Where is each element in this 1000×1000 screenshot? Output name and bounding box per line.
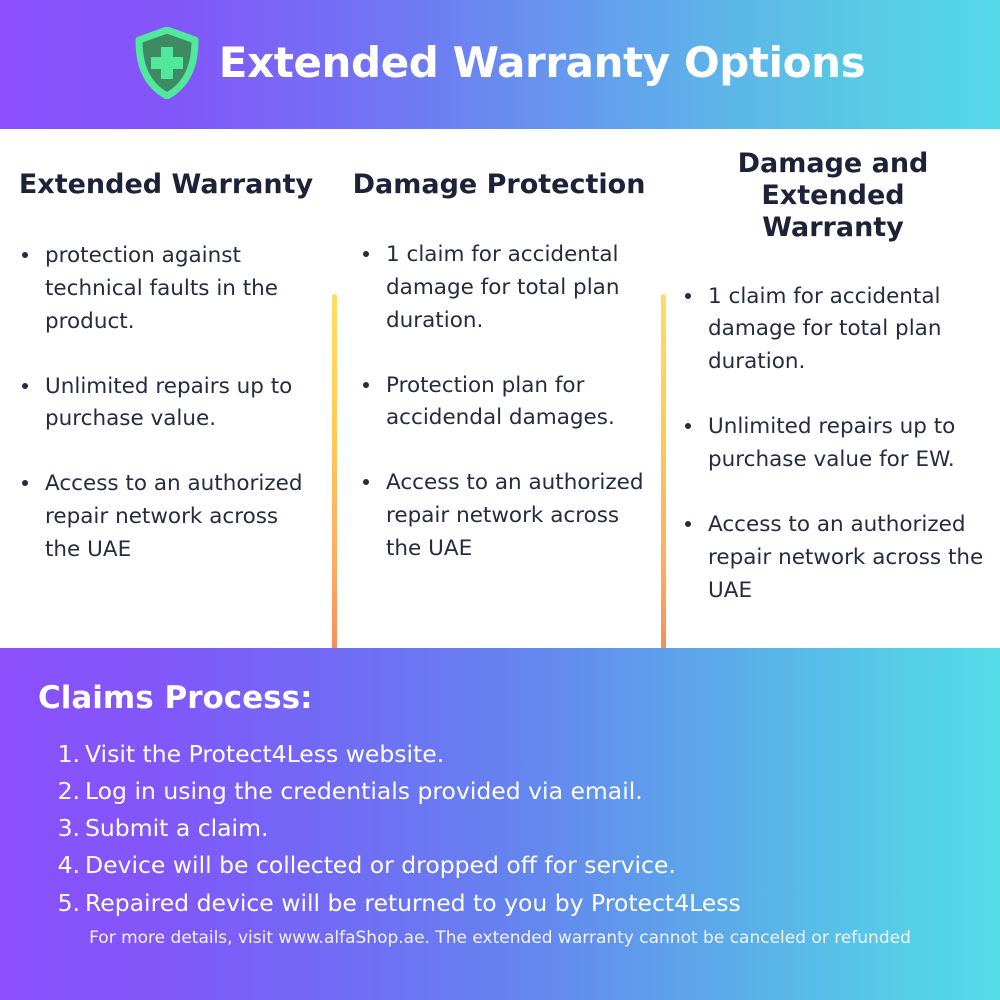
claims-step: 4. Device will be collected or dropped o… xyxy=(50,847,741,884)
list-item: 1 claim for accidental damage for total … xyxy=(359,239,649,338)
header-content: Extended Warranty Options xyxy=(135,27,865,99)
claims-step-text: Log in using the credentials provided vi… xyxy=(85,773,643,810)
header-banner: Extended Warranty Options xyxy=(0,0,1000,129)
list-item-text: Unlimited repairs up to purchase value f… xyxy=(708,414,955,472)
list-item-text: Unlimited repairs up to purchase value. xyxy=(45,374,292,432)
claims-step-text: Visit the Protect4Less website. xyxy=(85,736,444,773)
claims-step-number: 2. xyxy=(50,773,85,810)
claims-step: 5. Repaired device will be returned to y… xyxy=(50,885,741,922)
list-item: Unlimited repairs up to purchase value. xyxy=(18,371,318,437)
list-item-text: protection against technical faults in t… xyxy=(45,243,278,334)
claims-step-text: Device will be collected or dropped off … xyxy=(85,847,676,884)
claims-process-steps: 1. Visit the Protect4Less website. 2. Lo… xyxy=(50,736,741,922)
list-item-text: Access to an authorized repair network a… xyxy=(708,512,983,603)
feature-list: 1 claim for accidental damage for total … xyxy=(666,281,1000,608)
list-item-text: Protection plan for accidendal damages. xyxy=(386,373,615,431)
feature-list: 1 claim for accidental damage for total … xyxy=(337,239,661,566)
claims-process-title: Claims Process: xyxy=(38,680,312,716)
column-title: Damage and Extended Warranty xyxy=(666,129,1000,244)
claims-step: 3. Submit a claim. xyxy=(50,810,741,847)
bullet-dot-icon xyxy=(685,521,691,527)
list-item: Access to an authorized repair network a… xyxy=(359,467,649,566)
comparison-panel: Extended Warranty protection against tec… xyxy=(0,129,1000,648)
claims-step-number: 1. xyxy=(50,736,85,773)
list-item: Access to an authorized repair network a… xyxy=(681,509,984,608)
bullet-dot-icon xyxy=(363,251,369,257)
bullet-dot-icon xyxy=(22,383,28,389)
bullet-dot-icon xyxy=(363,382,369,388)
claims-step: 2. Log in using the credentials provided… xyxy=(50,773,741,810)
claims-process-section: Claims Process: 1. Visit the Protect4Les… xyxy=(0,648,1000,1000)
claims-step-number: 3. xyxy=(50,810,85,847)
claims-step-number: 5. xyxy=(50,885,85,922)
plan-column-damage-and-extended-warranty: Damage and Extended Warranty 1 claim for… xyxy=(666,129,1000,608)
plan-column-damage-protection: Damage Protection 1 claim for accidental… xyxy=(337,129,661,566)
bullet-dot-icon xyxy=(685,423,691,429)
list-item: Unlimited repairs up to purchase value f… xyxy=(681,411,984,477)
list-item: 1 claim for accidental damage for total … xyxy=(681,281,984,380)
claims-step: 1. Visit the Protect4Less website. xyxy=(50,736,741,773)
list-item-text: Access to an authorized repair network a… xyxy=(386,470,643,561)
column-title: Extended Warranty xyxy=(0,129,332,201)
claims-step-text: Submit a claim. xyxy=(85,810,268,847)
footnote-text: For more details, visit www.alfaShop.ae.… xyxy=(0,928,1000,948)
list-item: protection against technical faults in t… xyxy=(18,240,318,339)
bullet-dot-icon xyxy=(685,293,691,299)
claims-step-text: Repaired device will be returned to you … xyxy=(85,885,741,922)
list-item: Access to an authorized repair network a… xyxy=(18,468,318,567)
claims-step-number: 4. xyxy=(50,847,85,884)
infographic-page: Extended Warranty Options Extended Warra… xyxy=(0,0,1000,1000)
bullet-dot-icon xyxy=(22,252,28,258)
column-title: Damage Protection xyxy=(337,129,661,201)
list-item-text: 1 claim for accidental damage for total … xyxy=(708,284,941,375)
list-item-text: 1 claim for accidental damage for total … xyxy=(386,242,619,333)
page-title: Extended Warranty Options xyxy=(219,38,865,87)
feature-list: protection against technical faults in t… xyxy=(0,240,332,567)
plan-column-extended-warranty: Extended Warranty protection against tec… xyxy=(0,129,332,567)
bullet-dot-icon xyxy=(363,479,369,485)
bullet-dot-icon xyxy=(22,480,28,486)
shield-plus-icon xyxy=(135,27,199,99)
list-item-text: Access to an authorized repair network a… xyxy=(45,471,302,562)
list-item: Protection plan for accidendal damages. xyxy=(359,370,649,436)
